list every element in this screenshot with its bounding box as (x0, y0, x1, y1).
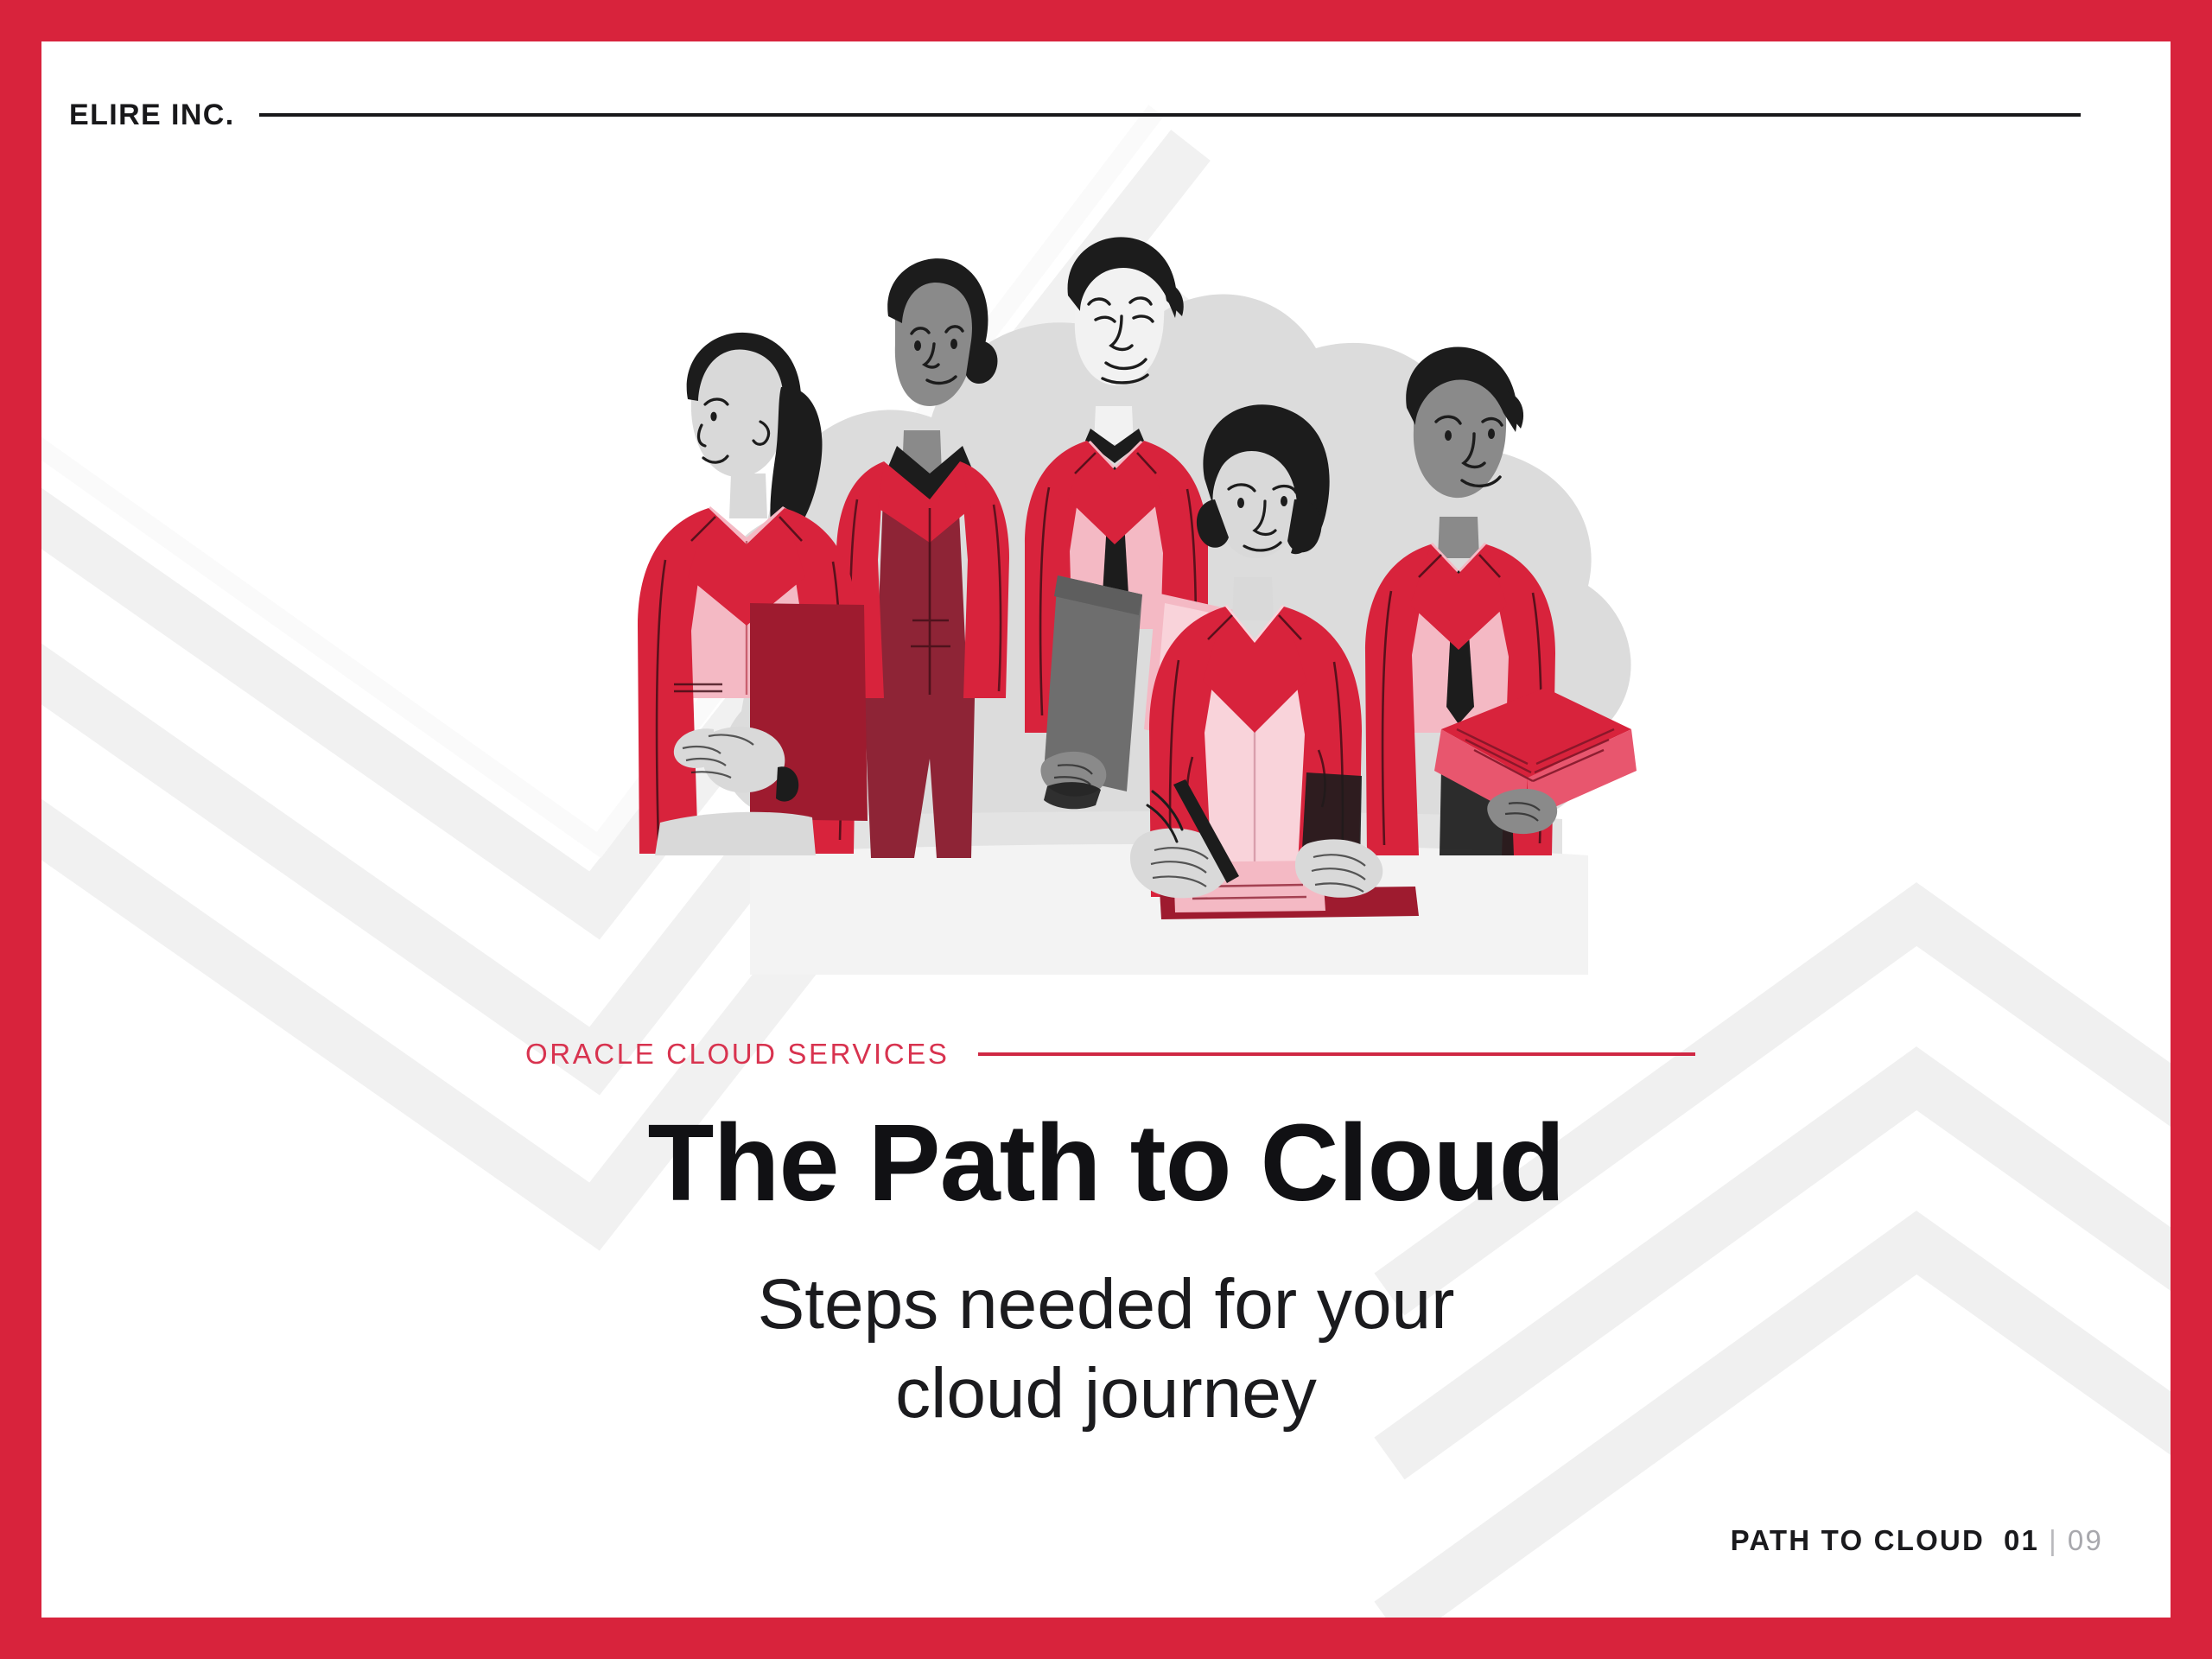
footer-total-pages: 09 (2068, 1524, 2103, 1557)
business-team-cloud-illustration (491, 214, 1839, 975)
slide-footer: PATH TO CLOUD 01 | 09 (1731, 1524, 2103, 1557)
subtitle-line-1: Steps needed for your (41, 1260, 2171, 1349)
footer-page-separator: | (2049, 1524, 2058, 1557)
slide-header: ELIRE INC. (69, 89, 2143, 141)
eyebrow-divider-rule (978, 1052, 1695, 1056)
footer-deck-label: PATH TO CLOUD (1731, 1524, 1985, 1557)
page-subtitle: Steps needed for your cloud journey (41, 1260, 2171, 1439)
slide-canvas: ELIRE INC. (41, 41, 2171, 1618)
subtitle-line-2: cloud journey (41, 1349, 2171, 1438)
eyebrow-row: ORACLE CLOUD SERVICES (525, 1033, 1735, 1075)
slide-root: ELIRE INC. (0, 0, 2212, 1659)
page-title: The Path to Cloud (41, 1106, 2171, 1220)
figure-woman-pointing (638, 333, 868, 855)
dark-clipboard (1040, 575, 1142, 809)
footer-current-page: 01 (2004, 1524, 2039, 1557)
brand-name: ELIRE INC. (69, 99, 235, 132)
eyebrow-label: ORACLE CLOUD SERVICES (525, 1038, 949, 1071)
header-divider-rule (259, 113, 2081, 117)
